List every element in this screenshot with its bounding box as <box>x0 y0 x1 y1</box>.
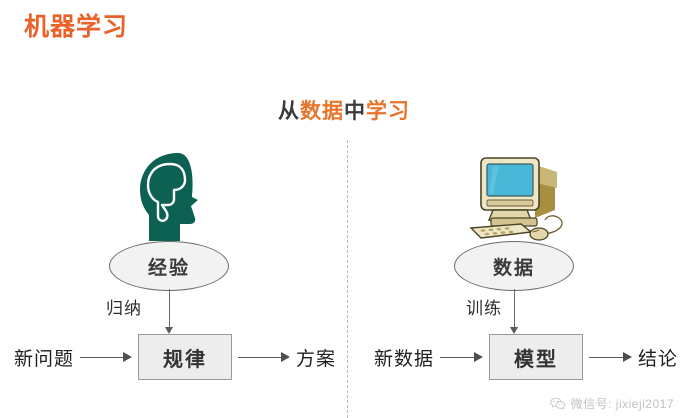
left-input-arrow-head <box>123 352 132 362</box>
left-output-arrow-head <box>281 352 290 362</box>
left-input-arrow-line <box>80 357 125 358</box>
right-vertical-arrow-label: 训练 <box>466 294 502 319</box>
watermark: 微信号: jixieji2017 <box>550 395 674 412</box>
right-ellipse-label: 数据 <box>493 253 535 280</box>
right-panel: 数据 训练 新数据 模型 结论 <box>344 0 688 418</box>
right-input-arrow-line <box>440 357 476 358</box>
right-output-arrow-line <box>589 357 625 358</box>
right-output-label: 结论 <box>638 344 678 371</box>
left-process-box: 规律 <box>138 334 232 380</box>
right-input-label: 新数据 <box>374 344 434 371</box>
right-ellipse-node: 数据 <box>454 241 574 291</box>
left-output-arrow <box>238 351 290 363</box>
wechat-icon <box>550 397 566 411</box>
left-ellipse-label: 经验 <box>148 253 190 280</box>
left-output-label: 方案 <box>296 344 336 371</box>
watermark-text: 微信号: jixieji2017 <box>571 395 674 412</box>
left-input-label: 新问题 <box>14 344 74 371</box>
left-flow-row: 新问题 规律 方案 <box>0 334 344 380</box>
right-flow-row: 新数据 模型 结论 <box>344 334 688 380</box>
left-output-arrow-line <box>238 357 283 358</box>
human-head-brain-icon <box>0 148 344 244</box>
slide-canvas: 机器学习 从数据中学习 经验 归纳 新问题 规 <box>0 0 688 418</box>
left-process-label: 规律 <box>163 343 207 372</box>
right-output-arrow-head <box>623 352 632 362</box>
left-vertical-arrow-line <box>169 289 170 329</box>
right-vertical-arrow <box>507 289 521 335</box>
right-output-arrow <box>589 351 632 363</box>
left-input-arrow <box>80 351 132 363</box>
desktop-computer-icon <box>344 148 688 244</box>
left-vertical-arrow-label: 归纳 <box>106 294 142 319</box>
left-ellipse-node: 经验 <box>109 241 229 291</box>
right-vertical-arrow-line <box>514 289 515 329</box>
right-vertical-arrow-head <box>510 327 518 334</box>
left-vertical-arrow <box>162 289 176 335</box>
left-panel: 经验 归纳 新问题 规律 方案 <box>0 0 344 418</box>
right-process-box: 模型 <box>489 334 583 380</box>
right-process-label: 模型 <box>514 343 558 372</box>
left-vertical-arrow-head <box>165 327 173 334</box>
right-input-arrow <box>440 351 483 363</box>
right-input-arrow-head <box>474 352 483 362</box>
